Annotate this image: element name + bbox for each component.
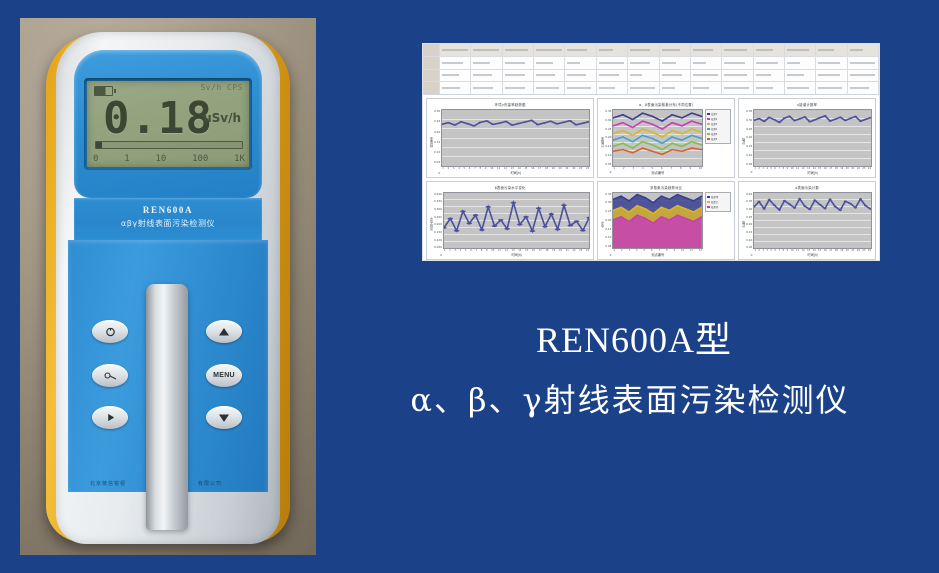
chart-data-point (645, 208, 647, 209)
chart-y-tick: 0.25 (605, 209, 611, 213)
spreadsheet-cell[interactable] (503, 82, 534, 94)
chart-body: 剂量率0.300.250.200.150.100.050123456789101… (427, 107, 593, 177)
cell-text-placeholder (756, 87, 774, 89)
chart-plot-area[interactable] (612, 109, 703, 167)
spreadsheet-cell[interactable] (848, 70, 879, 82)
chart-body: 计数0.350.300.250.200.150.100.050123456789… (739, 107, 875, 177)
chart-y-tick: 0.35 (605, 192, 611, 196)
device-handle-strip (146, 284, 188, 530)
spreadsheet-column-header[interactable] (471, 44, 502, 56)
chart-plot-area[interactable] (612, 192, 703, 250)
cell-text-placeholder (787, 87, 809, 89)
play-button[interactable] (92, 406, 128, 429)
chart-y-tick: 0.15 (605, 227, 611, 231)
chart-legend-item[interactable]: 核素丙 (707, 205, 729, 209)
lcd-screen: Sv/h CPS 0.18 uSv/h 0 1 10 100 1K (87, 81, 249, 167)
chart-data-point (632, 127, 634, 128)
chart-y-tick: 0.10 (605, 235, 611, 239)
cell-text-placeholder (662, 62, 676, 64)
chart-data-point (768, 198, 771, 199)
chart-data-point (662, 149, 664, 150)
spreadsheet-row-header[interactable] (423, 70, 440, 82)
chart-y-tick: 0.25 (746, 127, 752, 131)
chart-data-point (849, 202, 852, 203)
spreadsheet-cell[interactable] (722, 70, 753, 82)
chart-card[interactable]: 多核素污染趋势对比水平0.350.300.250.200.150.100.050… (597, 181, 735, 261)
chart-data-point (645, 197, 647, 198)
chart-card[interactable]: γ能谱计数率计数0.350.300.250.200.150.100.050123… (738, 98, 876, 178)
up-button[interactable] (206, 320, 242, 343)
chart-series-canvas (442, 110, 589, 166)
spreadsheet-row-header[interactable] (423, 57, 440, 69)
cell-text-placeholder (693, 87, 709, 89)
spreadsheet-cell[interactable] (565, 70, 596, 82)
spreadsheet-row-header[interactable] (423, 82, 440, 94)
chart-card[interactable]: β表面污染水平变化污染水平0.4000.3500.3000.2500.2000.… (426, 181, 594, 261)
chart-body: 污染水平0.4000.3500.3000.2500.2000.1500.1000… (427, 190, 593, 260)
chart-data-point (854, 116, 857, 117)
cell-text-placeholder (442, 49, 468, 51)
spreadsheet-cell[interactable] (534, 70, 565, 82)
chart-data-point (636, 193, 638, 194)
chart-data-point (681, 146, 683, 147)
chart-series-canvas (754, 193, 871, 249)
legend-color-swatch (707, 123, 710, 125)
chart-data-point (622, 149, 624, 150)
chart-data-point (574, 220, 580, 222)
chart-y-tick: 0.15 (434, 140, 440, 144)
chart-y-tick: 0.100 (434, 238, 442, 242)
spreadsheet-cell[interactable] (471, 57, 502, 69)
chart-y-tick: 0.20 (746, 135, 752, 139)
chart-data-point (622, 143, 624, 144)
chart-legend-item[interactable]: 核素甲 (707, 195, 729, 199)
chart-data-point (453, 124, 457, 125)
spreadsheet-row[interactable] (423, 57, 879, 70)
chart-data-point (536, 207, 542, 209)
cell-text-placeholder (536, 62, 553, 64)
chart-card[interactable]: 环境γ剂量率趋势图剂量率0.300.250.200.150.100.050123… (426, 98, 594, 178)
spreadsheet-cell[interactable] (785, 57, 816, 69)
chart-data-point (681, 125, 683, 126)
chart-data-point (447, 122, 451, 123)
spreadsheet-cell[interactable] (503, 70, 534, 82)
power-icon (105, 326, 116, 337)
chart-data-point (620, 195, 622, 196)
chart-y-tick: 0.35 (746, 199, 752, 203)
chart-data-point (642, 112, 644, 113)
chart-y-axis-label: 计数率 (600, 137, 605, 147)
chart-plot-wrapper: 12345678910测点编号 (612, 109, 703, 175)
spreadsheet-column-header[interactable] (785, 44, 816, 56)
spreadsheet-column-header[interactable] (565, 44, 596, 56)
search-button[interactable] (92, 364, 128, 387)
chart-body: 计数率0.350.300.250.200.150.100.05012345678… (598, 107, 734, 177)
chart-gridline (754, 248, 871, 249)
chart-data-point (568, 120, 572, 121)
chart-data-point (652, 131, 654, 132)
spreadsheet-cell[interactable] (660, 57, 691, 69)
spreadsheet-row[interactable] (423, 44, 879, 57)
chart-data-point (642, 128, 644, 129)
chart-card[interactable]: α表面污染计数计数0.400.350.300.250.200.150.100.0… (738, 181, 876, 261)
spreadsheet-cell[interactable] (440, 70, 471, 82)
chart-data-point (479, 228, 485, 230)
legend-color-swatch (707, 118, 710, 120)
legend-label: 核素4 (711, 127, 717, 131)
legend-label: 核素5 (711, 132, 717, 136)
chart-data-point (669, 219, 671, 220)
cell-text-placeholder (442, 62, 463, 64)
chart-y-tick: 0.30 (605, 200, 611, 204)
cell-text-placeholder (567, 87, 590, 89)
legend-color-swatch (707, 206, 710, 208)
chart-legend[interactable]: 核素1核素2核素3核素4核素5核素6 (705, 109, 731, 144)
chart-y-tick: 0 (605, 170, 611, 174)
chart-series-canvas (613, 110, 702, 166)
chart-y-ticks: 0.350.300.250.200.150.100.050 (605, 109, 612, 175)
chart-data-point (485, 205, 491, 207)
chart-data-point (517, 223, 523, 225)
chart-data-point (669, 198, 671, 199)
chart-data-point (681, 151, 683, 152)
spreadsheet-cell[interactable] (628, 82, 659, 94)
power-button[interactable] (92, 320, 128, 343)
chart-data-point (681, 117, 683, 118)
chart-x-axis-label: 时间(h) (441, 170, 590, 175)
chart-data-point (768, 117, 771, 118)
chart-y-tick: 0 (434, 171, 440, 175)
chart-data-point (677, 204, 679, 205)
chart-data-point (788, 116, 791, 117)
lcd-reading-unit: uSv/h (203, 111, 241, 125)
spreadsheet-row-header[interactable] (423, 44, 440, 56)
spreadsheet-column-header[interactable] (691, 44, 722, 56)
chart-y-tick: 0.15 (746, 230, 752, 234)
spreadsheet-cell[interactable] (597, 57, 628, 69)
spreadsheet-cell[interactable] (722, 82, 753, 94)
chart-data-point (652, 144, 654, 145)
chart-y-tick: 0 (605, 253, 611, 257)
chart-y-tick: 0.350 (434, 199, 442, 203)
spreadsheet-cell[interactable] (722, 57, 753, 69)
chart-data-point (809, 121, 812, 122)
chart-plot-area[interactable] (441, 109, 590, 167)
legend-label: 核素3 (711, 122, 717, 126)
spreadsheet-cell[interactable] (754, 57, 785, 69)
spreadsheet-cell[interactable] (691, 82, 722, 94)
chart-data-point (555, 228, 561, 230)
spreadsheet-cell[interactable] (754, 70, 785, 82)
spreadsheet-cell[interactable] (691, 70, 722, 82)
spreadsheet-column-header[interactable] (534, 44, 565, 56)
spreadsheet-cell[interactable] (754, 82, 785, 94)
spreadsheet-region (423, 44, 879, 95)
spreadsheet-column-header[interactable] (628, 44, 659, 56)
chart-legend-item[interactable]: 核素乙 (707, 200, 729, 204)
cell-text-placeholder (693, 49, 713, 51)
chart-data-point (859, 198, 862, 199)
cell-text-placeholder (630, 62, 649, 64)
spreadsheet-cell[interactable] (534, 82, 565, 94)
chart-data-point (677, 214, 679, 215)
spreadsheet-cell[interactable] (660, 82, 691, 94)
cell-text-placeholder (473, 87, 493, 89)
chart-data-point (622, 114, 624, 115)
chart-y-tick: 0.25 (605, 127, 611, 131)
chart-y-axis-label: 剂量率 (429, 137, 434, 147)
chart-legend-item[interactable]: 核素4 (707, 127, 729, 131)
chart-data-point (773, 119, 776, 120)
lcd-reading-value: 0.18 (103, 97, 213, 141)
chart-data-point (793, 120, 796, 121)
spreadsheet-cell[interactable] (691, 57, 722, 69)
chart-y-tick: 0.20 (434, 130, 440, 134)
chart-data-point (671, 130, 673, 131)
cell-text-placeholder (505, 62, 526, 64)
chart-data-point (681, 133, 683, 134)
chart-data-point (652, 151, 654, 152)
chart-data-point (632, 152, 634, 153)
legend-color-swatch (707, 133, 710, 135)
chart-data-point (758, 200, 761, 201)
chart-data-point (804, 116, 807, 117)
spreadsheet-row[interactable] (423, 82, 879, 94)
spreadsheet-cell[interactable] (785, 70, 816, 82)
cell-text-placeholder (599, 87, 615, 89)
chart-data-point (824, 207, 827, 208)
chart-line-series (613, 148, 702, 154)
cell-text-placeholder (756, 49, 773, 51)
chart-data-point (839, 209, 842, 210)
legend-color-swatch (707, 138, 710, 140)
spreadsheet-column-header[interactable] (597, 44, 628, 56)
cell-text-placeholder (442, 74, 459, 76)
radiation-detector-device: Sv/h CPS 0.18 uSv/h 0 1 10 100 1K REN600… (32, 28, 302, 546)
spreadsheet-cell[interactable] (816, 82, 847, 94)
chart-y-ticks: 0.350.300.250.200.150.100.050 (605, 192, 612, 258)
chart-data-point (691, 141, 693, 142)
chart-data-point (454, 229, 460, 231)
cell-text-placeholder (818, 74, 840, 76)
chart-gridline (442, 166, 589, 167)
lcd-bezel: Sv/h CPS 0.18 uSv/h 0 1 10 100 1K (84, 78, 252, 170)
device-model-label: REN600A (74, 205, 262, 215)
chart-legend-item[interactable]: 核素1 (707, 112, 729, 116)
chart-y-tick: 0.10 (434, 150, 440, 154)
chart-card[interactable]: α、β表面污染核素分布(不同位置)计数率0.350.300.250.200.15… (597, 98, 735, 178)
chart-data-point (653, 222, 655, 223)
chart-data-point (783, 200, 786, 201)
chart-data-point (642, 141, 644, 142)
chart-series-canvas (613, 193, 702, 249)
chart-data-point (645, 217, 647, 218)
spreadsheet-cell[interactable] (660, 70, 691, 82)
chart-y-tick: 0.40 (746, 192, 752, 196)
spreadsheet-row[interactable] (423, 70, 879, 83)
chart-data-point (653, 212, 655, 213)
triangle-up-icon (218, 327, 230, 337)
chart-data-point (662, 154, 664, 155)
chart-y-tick: 0.200 (434, 222, 442, 226)
chart-plot-wrapper: 123456789101112测点编号 (612, 192, 703, 258)
chart-plot-wrapper: 123456789101112131415161718192021222324时… (753, 192, 872, 258)
chart-data-point (485, 120, 489, 121)
chart-data-point (586, 216, 589, 218)
chart-data-point (492, 224, 498, 226)
down-button[interactable] (206, 406, 242, 429)
chart-data-point (448, 217, 454, 219)
chart-x-axis-label: 时间(h) (443, 252, 590, 257)
chart-y-axis-label: 水平 (600, 221, 605, 228)
chart-plot-area[interactable] (753, 109, 872, 167)
lcd-scale-tick: 0 (93, 154, 98, 164)
spreadsheet-cell[interactable] (785, 82, 816, 94)
chart-legend-item[interactable]: 核素5 (707, 132, 729, 136)
chart-body: 水平0.350.300.250.200.150.100.050123456789… (598, 190, 734, 260)
menu-button[interactable]: MENU (206, 364, 242, 387)
product-description-title: α、β、γ射线表面污染检测仪 (330, 376, 930, 424)
legend-label: 核素1 (711, 112, 717, 116)
cell-text-placeholder (724, 74, 747, 76)
cell-text-placeholder (724, 62, 745, 64)
cell-text-placeholder (787, 62, 800, 64)
chart-plot-wrapper: 123456789101112131415161718192021222324时… (441, 109, 590, 175)
chart-legend[interactable]: 核素甲核素乙核素丙 (705, 192, 731, 212)
chart-legend-item[interactable]: 核素6 (707, 137, 729, 141)
spreadsheet-cell[interactable] (848, 82, 879, 94)
cell-text-placeholder (599, 49, 613, 51)
chart-data-point (652, 124, 654, 125)
chart-y-tick: 0.30 (434, 109, 440, 113)
chart-line-series (444, 202, 589, 230)
spreadsheet-cell[interactable] (471, 70, 502, 82)
device-faceplate: Sv/h CPS 0.18 uSv/h 0 1 10 100 1K (74, 50, 262, 198)
chart-data-point (628, 211, 630, 212)
legend-label: 核素6 (711, 137, 717, 141)
spreadsheet-cell[interactable] (471, 82, 502, 94)
chart-data-point (834, 205, 837, 206)
spreadsheet-cell[interactable] (628, 57, 659, 69)
spreadsheet-cell[interactable] (565, 57, 596, 69)
chart-line-series (613, 113, 702, 121)
chart-data-point (788, 203, 791, 204)
chart-data-point (662, 136, 664, 137)
spreadsheet-cell[interactable] (816, 57, 847, 69)
cell-text-placeholder (567, 49, 586, 51)
spreadsheet-cell[interactable] (628, 70, 659, 82)
cell-text-placeholder (536, 74, 555, 76)
chart-data-point (620, 216, 622, 217)
cell-text-placeholder (473, 62, 489, 64)
spreadsheet-column-header[interactable] (660, 44, 691, 56)
chart-plot-area[interactable] (753, 192, 872, 250)
spreadsheet-cell[interactable] (503, 57, 534, 69)
chart-data-point (523, 121, 527, 122)
chart-x-axis-label: 测点编号 (612, 252, 703, 257)
chart-data-point (662, 128, 664, 129)
chart-data-point (652, 116, 654, 117)
spreadsheet-column-header[interactable] (503, 44, 534, 56)
chart-legend-item[interactable]: 核素2 (707, 117, 729, 121)
cell-text-placeholder (505, 87, 525, 89)
chart-data-point (620, 206, 622, 207)
cell-text-placeholder (850, 62, 875, 64)
chart-data-point (555, 123, 559, 124)
chart-y-tick: 0.05 (746, 162, 752, 166)
chart-data-point (671, 149, 673, 150)
cell-text-placeholder (505, 74, 525, 76)
spreadsheet-cell[interactable] (597, 70, 628, 82)
chart-data-point (662, 143, 664, 144)
spreadsheet-cell[interactable] (565, 82, 596, 94)
chart-line-series (754, 198, 871, 209)
spreadsheet-cell[interactable] (848, 57, 879, 69)
chart-y-tick: 0.05 (746, 245, 752, 249)
chart-data-point (814, 119, 817, 120)
chart-data-point (536, 124, 540, 125)
chart-plot-area[interactable] (443, 192, 590, 250)
spreadsheet-cell[interactable] (597, 82, 628, 94)
chart-data-point (793, 207, 796, 208)
spreadsheet-column-header[interactable] (722, 44, 753, 56)
chart-legend-item[interactable]: 核素3 (707, 122, 729, 126)
lcd-scale-tick: 10 (155, 154, 166, 164)
lcd-bargraph (95, 141, 243, 149)
chart-y-ticks: 0.4000.3500.3000.2500.2000.1500.1000.050… (434, 192, 443, 258)
chart-data-point (479, 122, 483, 123)
chart-data-point (511, 124, 515, 125)
chart-data-point (549, 213, 555, 215)
spreadsheet-cell[interactable] (440, 82, 471, 94)
spreadsheet-cell[interactable] (440, 57, 471, 69)
chart-data-point (628, 220, 630, 221)
cell-text-placeholder (536, 49, 562, 51)
chart-y-tick: 0.050 (434, 245, 442, 249)
legend-color-swatch (707, 113, 710, 115)
chart-data-point (778, 209, 781, 210)
spreadsheet-column-header[interactable] (440, 44, 471, 56)
chart-data-point (632, 141, 634, 142)
spreadsheet-cell[interactable] (534, 57, 565, 69)
chart-data-point (661, 216, 663, 217)
spreadsheet-column-header[interactable] (848, 44, 879, 56)
chart-data-point (693, 220, 695, 221)
chart-y-tick: 0.10 (605, 153, 611, 157)
spreadsheet-cell[interactable] (816, 70, 847, 82)
cell-text-placeholder (850, 49, 863, 51)
legend-color-swatch (707, 128, 710, 130)
chart-y-tick: 0.20 (605, 135, 611, 139)
chart-y-axis-label: 污染水平 (429, 217, 434, 231)
chart-series-canvas (444, 193, 589, 249)
cell-text-placeholder (536, 87, 559, 89)
spreadsheet-column-header[interactable] (816, 44, 847, 56)
chart-y-tick: 0.250 (434, 215, 442, 219)
chart-data-point (671, 136, 673, 137)
chart-data-point (460, 210, 466, 212)
chart-data-point (814, 199, 817, 200)
chart-gridline (754, 166, 871, 167)
play-icon (105, 412, 116, 423)
chart-data-point (798, 118, 801, 119)
chart-data-point (783, 117, 786, 118)
chart-data-point (693, 200, 695, 201)
spreadsheet-column-header[interactable] (754, 44, 785, 56)
chart-data-point (691, 112, 693, 113)
chart-y-tick: 0.35 (746, 109, 752, 113)
chart-y-tick: 0.05 (605, 244, 611, 248)
